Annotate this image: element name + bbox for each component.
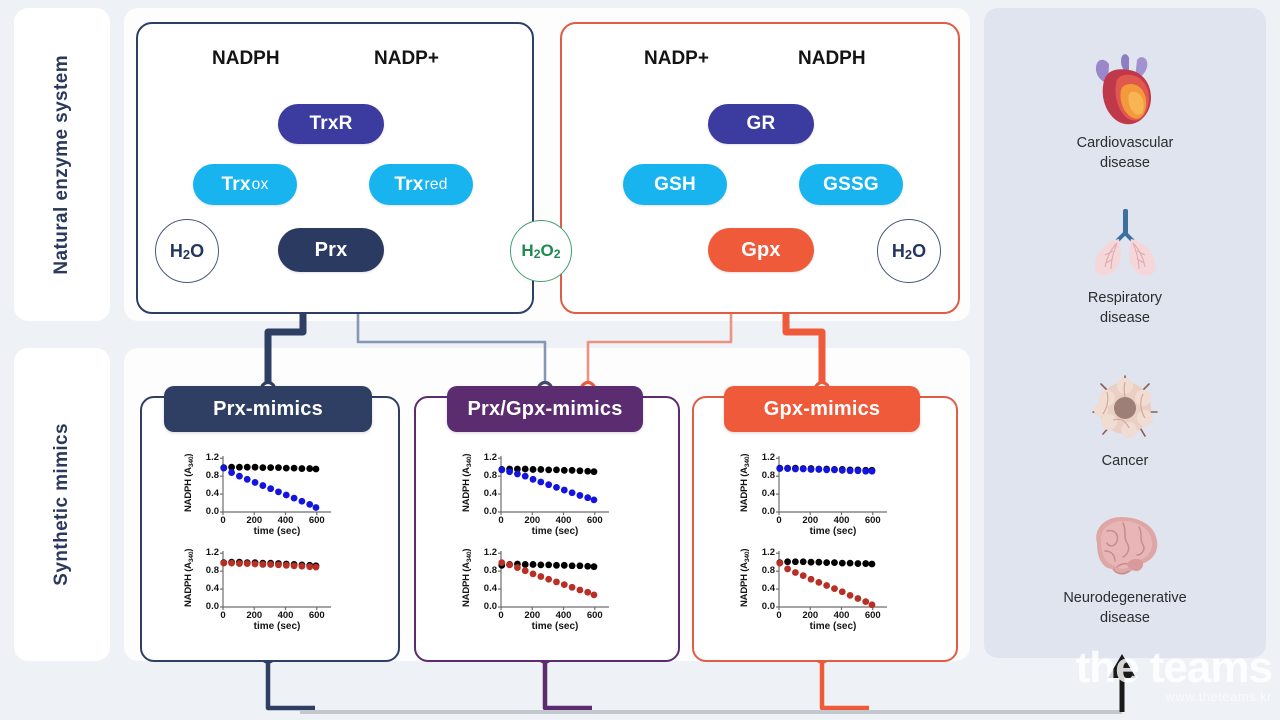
chart-ytick: 0.4 (473, 583, 497, 594)
series-control (776, 558, 875, 567)
chart-xlabel: time (sec) (223, 621, 331, 632)
plot-prx-gpx-mimics-gsh-assay: NADPH (A340)0.00.40.81.20200400600time (… (461, 545, 611, 629)
node-gssg-label: GSSG (823, 174, 879, 196)
node-trx-ox-state: ox (252, 176, 269, 194)
chart-xtick: 0 (487, 515, 515, 526)
chart-ytick: 0.8 (195, 565, 219, 576)
chart-xtick: 0 (765, 515, 793, 526)
nadph-label-left: NADPH (212, 48, 280, 70)
chart-ytick: 0.4 (473, 488, 497, 499)
node-gssg[interactable]: GSSG (799, 164, 903, 205)
chart-xtick: 600 (303, 515, 331, 526)
node-trx-red-state: red (425, 176, 448, 194)
chart-ytick: 0.4 (195, 488, 219, 499)
chart-prx-mimics-gsh-assay: NADPH (A340)0.00.40.81.20200400600time (… (183, 545, 333, 629)
synthetic-mimics-label: Synthetic mimics (51, 423, 73, 586)
chart-ytick: 0.4 (195, 583, 219, 594)
node-gr-label: GR (747, 113, 776, 135)
chart-gpx-mimics-trx-assay: NADPH (A340)0.00.40.81.20200400600time (… (739, 450, 889, 534)
node-prx-label: Prx (315, 239, 348, 262)
node-trxr-label: TrxR (309, 113, 352, 135)
series-control (220, 464, 319, 473)
plot-prx-mimics-trx-assay: NADPH (A340)0.00.40.81.20200400600time (… (183, 450, 333, 534)
chip-prx-mimics[interactable]: Prx-mimics (164, 386, 372, 432)
watermark-url: www.theteams.kr (1076, 689, 1272, 704)
disease-label-cardiovascular: Cardiovasculardisease (984, 134, 1266, 173)
product-water-right: H2O (877, 219, 941, 283)
heart-icon (1083, 50, 1167, 128)
chart-xtick: 200 (518, 515, 546, 526)
nadp-plus-label-right: NADP+ (644, 48, 709, 70)
chart-xlabel: time (sec) (501, 526, 609, 537)
chart-xlabel: time (sec) (501, 621, 609, 632)
chart-xtick: 200 (240, 610, 268, 621)
chart-ytick: 0.4 (751, 488, 775, 499)
chart-ylabel: NADPH (A340) (461, 545, 473, 607)
connector-prx-mimics-to-bus (268, 658, 315, 708)
chart-ytick: 0.8 (473, 565, 497, 576)
section-label-synthetic-mimics: Synthetic mimics (14, 348, 110, 661)
chart-ytick: 1.2 (473, 452, 497, 463)
chart-ylabel: NADPH (A340) (183, 450, 195, 512)
section-label-natural-enzyme-system: Natural enzyme system (14, 8, 110, 321)
connector-gpx-mimics-to-bus (822, 658, 869, 708)
chart-xtick: 600 (581, 515, 609, 526)
node-trxr[interactable]: TrxR (278, 104, 384, 144)
chip-prx-mimics-label: Prx-mimics (213, 398, 323, 421)
chip-prx-gpx-mimics[interactable]: Prx/Gpx-mimics (447, 386, 643, 432)
chip-gpx-mimics[interactable]: Gpx-mimics (724, 386, 920, 432)
chart-xlabel: time (sec) (779, 526, 887, 537)
chart-xtick: 600 (303, 610, 331, 621)
node-gsh[interactable]: GSH (623, 164, 727, 205)
disease-item-cardiovascular[interactable]: Cardiovasculardisease (984, 50, 1266, 173)
connector-both-mimics-to-bus (545, 658, 592, 708)
chart-xtick: 0 (765, 610, 793, 621)
chart-xtick: 600 (859, 515, 887, 526)
natural-enzyme-system-label: Natural enzyme system (51, 55, 73, 275)
node-prx[interactable]: Prx (278, 228, 384, 272)
chart-xtick: 0 (209, 610, 237, 621)
chart-ylabel: NADPH (A340) (739, 545, 751, 607)
chart-xtick: 400 (550, 610, 578, 621)
plot-gpx-mimics-trx-assay: NADPH (A340)0.00.40.81.20200400600time (… (739, 450, 889, 534)
chip-prx-gpx-mimics-label: Prx/Gpx-mimics (467, 398, 622, 421)
chart-prx-gpx-mimics-trx-assay: NADPH (A340)0.00.40.81.20200400600time (… (461, 450, 611, 534)
disease-item-cancer[interactable]: Cancer (984, 368, 1266, 472)
chart-ytick: 0.4 (751, 583, 775, 594)
node-gpx-label: Gpx (741, 239, 781, 262)
disease-item-neurodegenerative[interactable]: Neurodegenerativedisease (984, 505, 1266, 628)
chart-xtick: 400 (272, 610, 300, 621)
lungs-icon (1083, 205, 1167, 283)
node-trx-red-label: Trx (394, 174, 423, 196)
chart-prx-mimics-trx-assay: NADPH (A340)0.00.40.81.20200400600time (… (183, 450, 333, 534)
series-gpx-mimic (776, 560, 875, 608)
chart-ylabel: NADPH (A340) (183, 545, 195, 607)
chart-ytick: 1.2 (751, 547, 775, 558)
disease-item-respiratory[interactable]: Respiratorydisease (984, 205, 1266, 328)
chart-ytick: 1.2 (473, 547, 497, 558)
plot-prx-mimics-gsh-assay: NADPH (A340)0.00.40.81.20200400600time (… (183, 545, 333, 629)
chart-xtick: 400 (828, 515, 856, 526)
plot-gpx-mimics-gsh-assay: NADPH (A340)0.00.40.81.20200400600time (… (739, 545, 889, 629)
nadph-label-right: NADPH (798, 48, 866, 70)
chart-xtick: 0 (487, 610, 515, 621)
chart-ytick: 0.8 (473, 470, 497, 481)
node-trx-ox[interactable]: Trxox (193, 164, 297, 205)
substrate-hydrogen-peroxide: H2O2 (510, 220, 572, 282)
series-prx-mimic (220, 465, 319, 511)
disease-label-cancer: Cancer (984, 452, 1266, 472)
chart-xtick: 600 (581, 610, 609, 621)
chip-gpx-mimics-label: Gpx-mimics (764, 398, 880, 421)
node-gsh-label: GSH (654, 174, 696, 196)
chart-xtick: 400 (828, 610, 856, 621)
chart-prx-gpx-mimics-gsh-assay: NADPH (A340)0.00.40.81.20200400600time (… (461, 545, 611, 629)
chart-ytick: 1.2 (751, 452, 775, 463)
chart-xtick: 200 (240, 515, 268, 526)
chart-gpx-mimics-gsh-assay: NADPH (A340)0.00.40.81.20200400600time (… (739, 545, 889, 629)
node-trx-red[interactable]: Trxred (369, 164, 473, 205)
chart-xtick: 200 (796, 610, 824, 621)
chart-xtick: 400 (550, 515, 578, 526)
series-control (498, 466, 597, 475)
chart-ytick: 0.8 (751, 470, 775, 481)
node-gpx[interactable]: Gpx (708, 228, 814, 272)
node-gr[interactable]: GR (708, 104, 814, 144)
diagram-canvas: Natural enzyme system Synthetic mimics (0, 0, 1280, 720)
chart-xlabel: time (sec) (223, 526, 331, 537)
disease-label-neurodegenerative: Neurodegenerativedisease (984, 589, 1266, 628)
chart-xlabel: time (sec) (779, 621, 887, 632)
chart-ytick: 1.2 (195, 547, 219, 558)
chart-ylabel: NADPH (A340) (739, 450, 751, 512)
chart-xtick: 200 (796, 515, 824, 526)
tumor-cell-icon (1083, 368, 1167, 446)
chart-ylabel: NADPH (A340) (461, 450, 473, 512)
series-prx-mimic (220, 560, 319, 571)
series-control (498, 561, 597, 570)
chart-ytick: 0.8 (195, 470, 219, 481)
plot-prx-gpx-mimics-trx-assay: NADPH (A340)0.00.40.81.20200400600time (… (461, 450, 611, 534)
chart-xtick: 200 (518, 610, 546, 621)
chart-ytick: 0.8 (751, 565, 775, 576)
chart-xtick: 0 (209, 515, 237, 526)
node-trx-ox-label: Trx (222, 174, 251, 196)
product-water-left: H2O (155, 219, 219, 283)
disease-label-respiratory: Respiratorydisease (984, 289, 1266, 328)
brain-icon (1083, 505, 1167, 583)
chart-xtick: 400 (272, 515, 300, 526)
chart-xtick: 600 (859, 610, 887, 621)
chart-ytick: 1.2 (195, 452, 219, 463)
nadp-plus-label-left: NADP+ (374, 48, 439, 70)
